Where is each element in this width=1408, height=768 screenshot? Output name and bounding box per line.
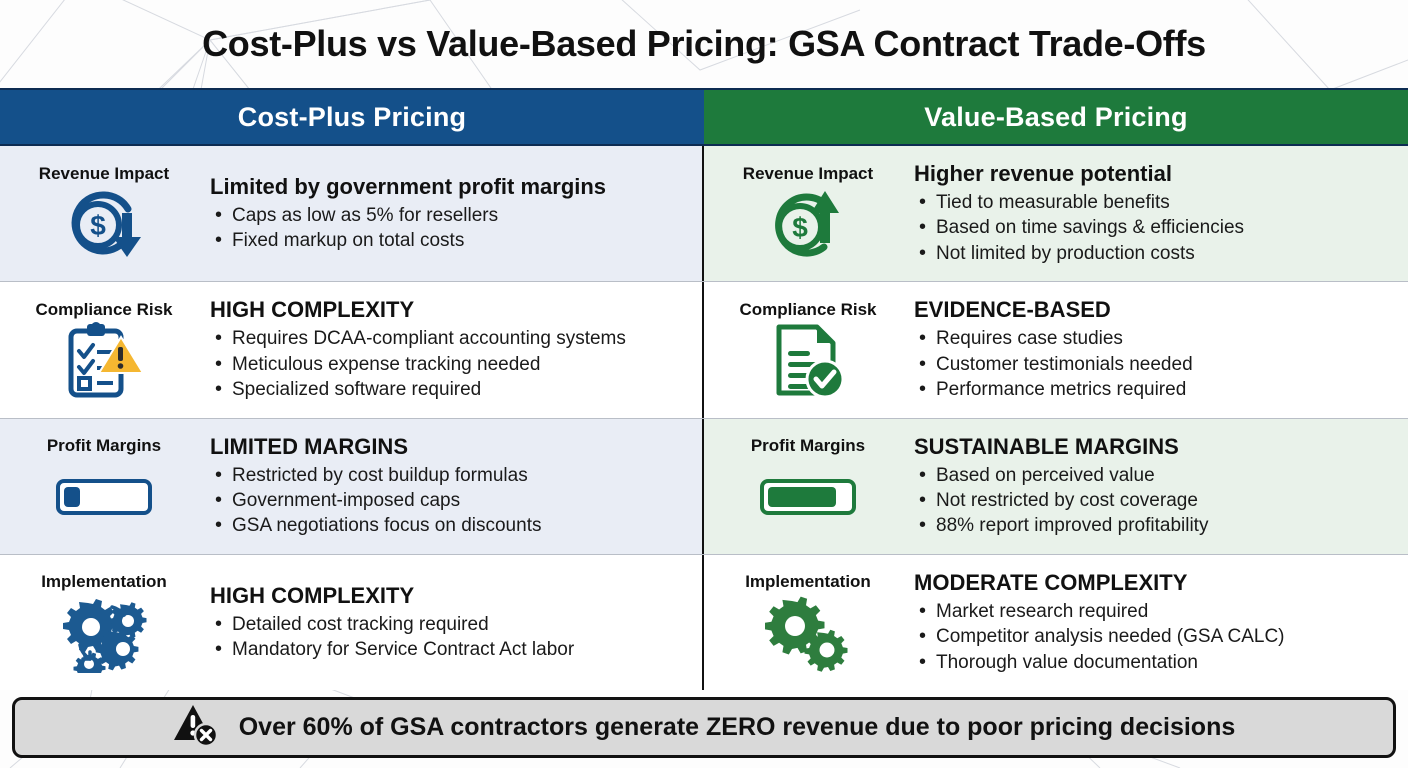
list-item: Based on perceived value [914, 463, 1400, 488]
svg-text:$: $ [792, 212, 808, 243]
progress-bar-track [760, 479, 856, 515]
list-item: Specialized software required [210, 377, 694, 402]
progress-bar-track [56, 479, 152, 515]
list-item: Competitor analysis needed (GSA CALC) [914, 624, 1400, 649]
row-headline: SUSTAINABLE MARGINS [914, 434, 1400, 460]
content-column: LIMITED MARGINS Restricted by cost build… [202, 434, 694, 539]
dollar-circle-down-arrow-icon: $ [56, 186, 152, 264]
list-item: Not restricted by cost coverage [914, 488, 1400, 513]
list-item: Requires case studies [914, 326, 1400, 351]
icon-column: Revenue Impact $ [6, 164, 202, 264]
bullet-list: Caps as low as 5% for resellers Fixed ma… [210, 203, 694, 254]
icon-column: Compliance Risk [710, 300, 906, 400]
row-headline: HIGH COMPLEXITY [210, 583, 694, 609]
list-item: Mandatory for Service Contract Act labor [210, 637, 694, 662]
category-label: Implementation [41, 572, 167, 592]
bullet-list: Market research required Competitor anal… [914, 599, 1400, 675]
category-label: Revenue Impact [743, 164, 873, 184]
dollar-circle-up-arrow-icon: $ [760, 186, 856, 264]
column-headers: Cost-Plus Pricing Value-Based Pricing [0, 88, 1408, 144]
table-row: Profit Margins LIMITED MARGINS Restricte… [0, 419, 1408, 555]
row-headline: Higher revenue potential [914, 161, 1400, 187]
comparison-rows: Revenue Impact $ [0, 144, 1408, 690]
list-item: Requires DCAA-compliant accounting syste… [210, 326, 694, 351]
content-column: SUSTAINABLE MARGINS Based on perceived v… [906, 434, 1400, 539]
icon-column: Implementation [6, 572, 202, 672]
list-item: Thorough value documentation [914, 650, 1400, 675]
column-header-value-based-label: Value-Based Pricing [924, 102, 1187, 133]
progress-bar-fill [768, 487, 836, 507]
row-profit-margins-value-based: Profit Margins SUSTAINABLE MARGINS Based… [704, 419, 1408, 554]
icon-column: Implementation [710, 572, 906, 672]
icon-column: Compliance Risk [6, 300, 202, 400]
bullet-list: Tied to measurable benefits Based on tim… [914, 190, 1400, 266]
list-item: Performance metrics required [914, 377, 1400, 402]
content-column: EVIDENCE-BASED Requires case studies Cus… [906, 297, 1400, 402]
content-column: Higher revenue potential Tied to measura… [906, 161, 1400, 266]
category-label: Profit Margins [751, 436, 865, 456]
row-headline: Limited by government profit margins [210, 174, 694, 200]
progress-bar-high-icon [760, 458, 856, 536]
icon-column: Revenue Impact $ [710, 164, 906, 264]
gears-cluster-icon [56, 594, 152, 672]
bullet-list: Restricted by cost buildup formulas Gove… [210, 463, 694, 539]
content-column: HIGH COMPLEXITY Requires DCAA-compliant … [202, 297, 694, 402]
table-row: Revenue Impact $ [0, 146, 1408, 282]
list-item: Fixed markup on total costs [210, 228, 694, 253]
list-item: Based on time savings & efficiencies [914, 215, 1400, 240]
icon-column: Profit Margins [6, 436, 202, 536]
row-compliance-risk-cost-plus: Compliance Risk [0, 282, 704, 417]
row-revenue-impact-cost-plus: Revenue Impact $ [0, 146, 704, 281]
column-header-value-based: Value-Based Pricing [704, 90, 1408, 144]
row-implementation-cost-plus: Implementation [0, 555, 704, 690]
category-label: Profit Margins [47, 436, 161, 456]
row-implementation-value-based: Implementation [704, 555, 1408, 690]
page-title: Cost-Plus vs Value-Based Pricing: GSA Co… [202, 23, 1206, 65]
category-label: Compliance Risk [36, 300, 173, 320]
column-header-cost-plus-label: Cost-Plus Pricing [238, 102, 466, 133]
page-title-bar: Cost-Plus vs Value-Based Pricing: GSA Co… [0, 0, 1408, 88]
document-check-icon [760, 322, 856, 400]
list-item: Customer testimonials needed [914, 352, 1400, 377]
warning-triangle-error-icon [173, 702, 223, 753]
row-headline: HIGH COMPLEXITY [210, 297, 694, 323]
svg-text:$: $ [90, 210, 106, 241]
list-item: Meticulous expense tracking needed [210, 352, 694, 377]
category-label: Implementation [745, 572, 871, 592]
category-label: Compliance Risk [740, 300, 877, 320]
row-compliance-risk-value-based: Compliance Risk [704, 282, 1408, 417]
bottom-banner-area: Over 60% of GSA contractors generate ZER… [0, 690, 1408, 768]
list-item: Not limited by production costs [914, 241, 1400, 266]
warning-banner-text: Over 60% of GSA contractors generate ZER… [239, 713, 1236, 742]
list-item: 88% report improved profitability [914, 513, 1400, 538]
gears-pair-icon [760, 594, 856, 672]
list-item: Restricted by cost buildup formulas [210, 463, 694, 488]
list-item: Market research required [914, 599, 1400, 624]
infographic-page: Cost-Plus vs Value-Based Pricing: GSA Co… [0, 0, 1408, 768]
table-row: Compliance Risk [0, 282, 1408, 418]
list-item: Detailed cost tracking required [210, 612, 694, 637]
table-row: Implementation [0, 555, 1408, 690]
list-item: GSA negotiations focus on discounts [210, 513, 694, 538]
progress-bar-fill [64, 487, 80, 507]
content-column: HIGH COMPLEXITY Detailed cost tracking r… [202, 583, 694, 663]
bullet-list: Requires DCAA-compliant accounting syste… [210, 326, 694, 402]
clipboard-warning-icon [56, 322, 152, 400]
bullet-list: Based on perceived value Not restricted … [914, 463, 1400, 539]
row-headline: EVIDENCE-BASED [914, 297, 1400, 323]
column-header-cost-plus: Cost-Plus Pricing [0, 90, 704, 144]
content-column: Limited by government profit margins Cap… [202, 174, 694, 254]
row-headline: MODERATE COMPLEXITY [914, 570, 1400, 596]
icon-column: Profit Margins [710, 436, 906, 536]
list-item: Tied to measurable benefits [914, 190, 1400, 215]
list-item: Caps as low as 5% for resellers [210, 203, 694, 228]
row-revenue-impact-value-based: Revenue Impact $ Higher re [704, 146, 1408, 281]
content-column: MODERATE COMPLEXITY Market research requ… [906, 570, 1400, 675]
category-label: Revenue Impact [39, 164, 169, 184]
bullet-list: Detailed cost tracking required Mandator… [210, 612, 694, 663]
warning-banner: Over 60% of GSA contractors generate ZER… [12, 697, 1396, 758]
row-profit-margins-cost-plus: Profit Margins LIMITED MARGINS Restricte… [0, 419, 704, 554]
progress-bar-low-icon [56, 458, 152, 536]
list-item: Government-imposed caps [210, 488, 694, 513]
row-headline: LIMITED MARGINS [210, 434, 694, 460]
bullet-list: Requires case studies Customer testimoni… [914, 326, 1400, 402]
